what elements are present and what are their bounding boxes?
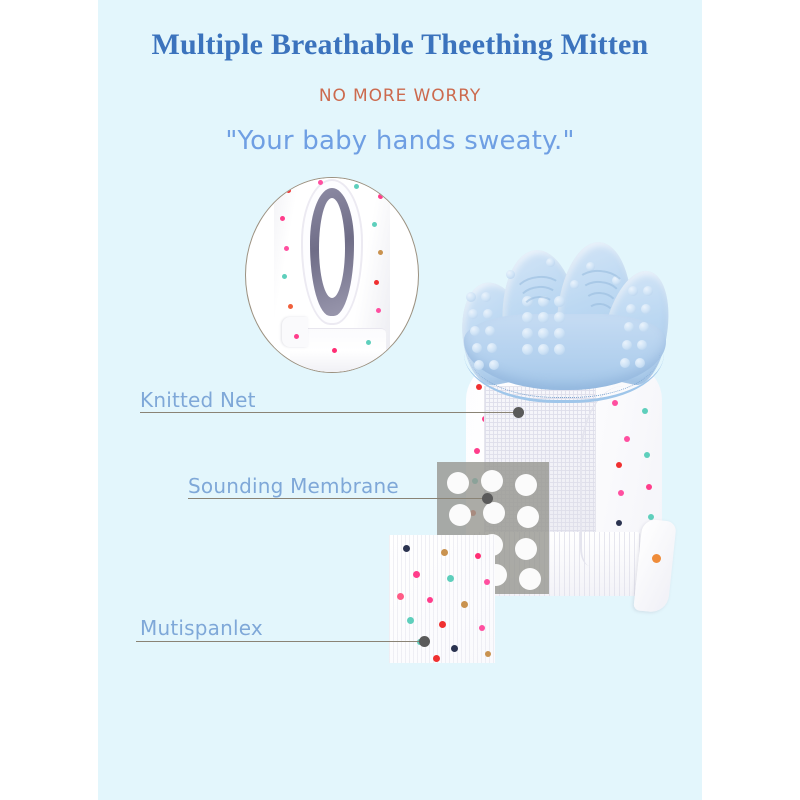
polka-dot bbox=[439, 621, 446, 628]
callout-label-knitted-net: Knitted Net bbox=[140, 388, 256, 412]
polka-dot bbox=[318, 180, 323, 185]
teether-nub bbox=[538, 328, 549, 339]
teether-nub bbox=[554, 328, 565, 339]
teether-nub bbox=[522, 328, 533, 339]
teether-nub bbox=[468, 309, 478, 319]
inset-mitten-fabric bbox=[274, 177, 390, 373]
polka-dot bbox=[451, 645, 458, 652]
polka-dot bbox=[332, 348, 337, 353]
membrane-hole bbox=[447, 472, 469, 494]
inset-opening-inner bbox=[319, 198, 345, 298]
teether-nub bbox=[628, 286, 638, 296]
teether-nub bbox=[546, 258, 555, 267]
polka-dot bbox=[378, 250, 383, 255]
membrane-hole bbox=[515, 474, 537, 496]
polka-dot bbox=[461, 601, 468, 608]
subtitle-text: NO MORE WORRY bbox=[98, 86, 702, 106]
polka-dot bbox=[397, 593, 404, 600]
polka-dot bbox=[485, 651, 491, 657]
polka-dot bbox=[378, 194, 383, 199]
mutispanlex-fabric-swatch bbox=[389, 535, 495, 663]
membrane-hole bbox=[483, 502, 505, 524]
membrane-hole bbox=[517, 506, 539, 528]
leader-line-knitted-net bbox=[140, 412, 515, 413]
teether-nub bbox=[485, 326, 495, 336]
polka-dot bbox=[413, 571, 420, 578]
page-title: Multiple Breathable Theething Mitten bbox=[98, 28, 702, 62]
polka-dot bbox=[447, 575, 454, 582]
membrane-hole bbox=[515, 538, 537, 560]
teether-nub bbox=[481, 292, 491, 302]
polka-dot bbox=[403, 545, 410, 552]
polka-dot bbox=[407, 617, 414, 624]
teether-nub bbox=[487, 343, 497, 353]
polka-dot bbox=[376, 308, 381, 313]
teether-nub bbox=[639, 322, 649, 332]
polka-dot bbox=[372, 222, 377, 227]
teether-nub bbox=[483, 309, 493, 319]
leader-line-sounding-membrane bbox=[188, 498, 484, 499]
teether-nub bbox=[637, 340, 647, 350]
membrane-hole bbox=[519, 568, 541, 590]
inset-mitten-flap bbox=[282, 317, 308, 347]
polka-dot bbox=[288, 304, 293, 309]
teether-nub bbox=[466, 292, 476, 302]
polka-dot bbox=[280, 216, 285, 221]
polka-dot bbox=[354, 184, 359, 189]
polka-dot bbox=[474, 448, 480, 454]
membrane-hole bbox=[449, 504, 471, 526]
polka-dot bbox=[484, 579, 490, 585]
leader-dot-mutispanlex bbox=[419, 636, 430, 647]
polka-dot bbox=[433, 655, 440, 662]
teether-nub bbox=[624, 322, 634, 332]
callout-label-sounding-membrane: Sounding Membrane bbox=[188, 474, 399, 498]
leader-line-mutispanlex bbox=[136, 641, 421, 642]
polka-dot bbox=[441, 549, 448, 556]
teether-nub bbox=[626, 304, 636, 314]
polka-dot bbox=[286, 188, 291, 193]
teether-nub bbox=[622, 340, 632, 350]
polka-dot bbox=[294, 334, 299, 339]
strap-accent-dot bbox=[652, 554, 661, 563]
polka-dot bbox=[374, 280, 379, 285]
leader-dot-sounding-membrane bbox=[482, 493, 493, 504]
teether-nub bbox=[641, 304, 651, 314]
infographic-canvas: Multiple Breathable Theething Mitten NO … bbox=[0, 0, 800, 800]
inset-mitten-opening bbox=[310, 188, 354, 316]
mitten-opening-closeup-photo bbox=[245, 177, 419, 373]
callout-label-mutispanlex: Mutispanlex bbox=[140, 616, 263, 640]
polka-dot bbox=[479, 625, 485, 631]
polka-dot bbox=[282, 274, 287, 279]
leader-dot-knitted-net bbox=[513, 407, 524, 418]
polka-dot bbox=[284, 246, 289, 251]
teether-nub bbox=[506, 270, 515, 279]
polka-dot bbox=[427, 597, 433, 603]
teether-nub bbox=[470, 326, 480, 336]
quote-text: "Your baby hands sweaty." bbox=[98, 126, 702, 156]
membrane-hole bbox=[481, 470, 503, 492]
teether-nub bbox=[643, 286, 653, 296]
polka-dot bbox=[366, 340, 371, 345]
polka-dot bbox=[475, 553, 481, 559]
teether-nub bbox=[472, 343, 482, 353]
